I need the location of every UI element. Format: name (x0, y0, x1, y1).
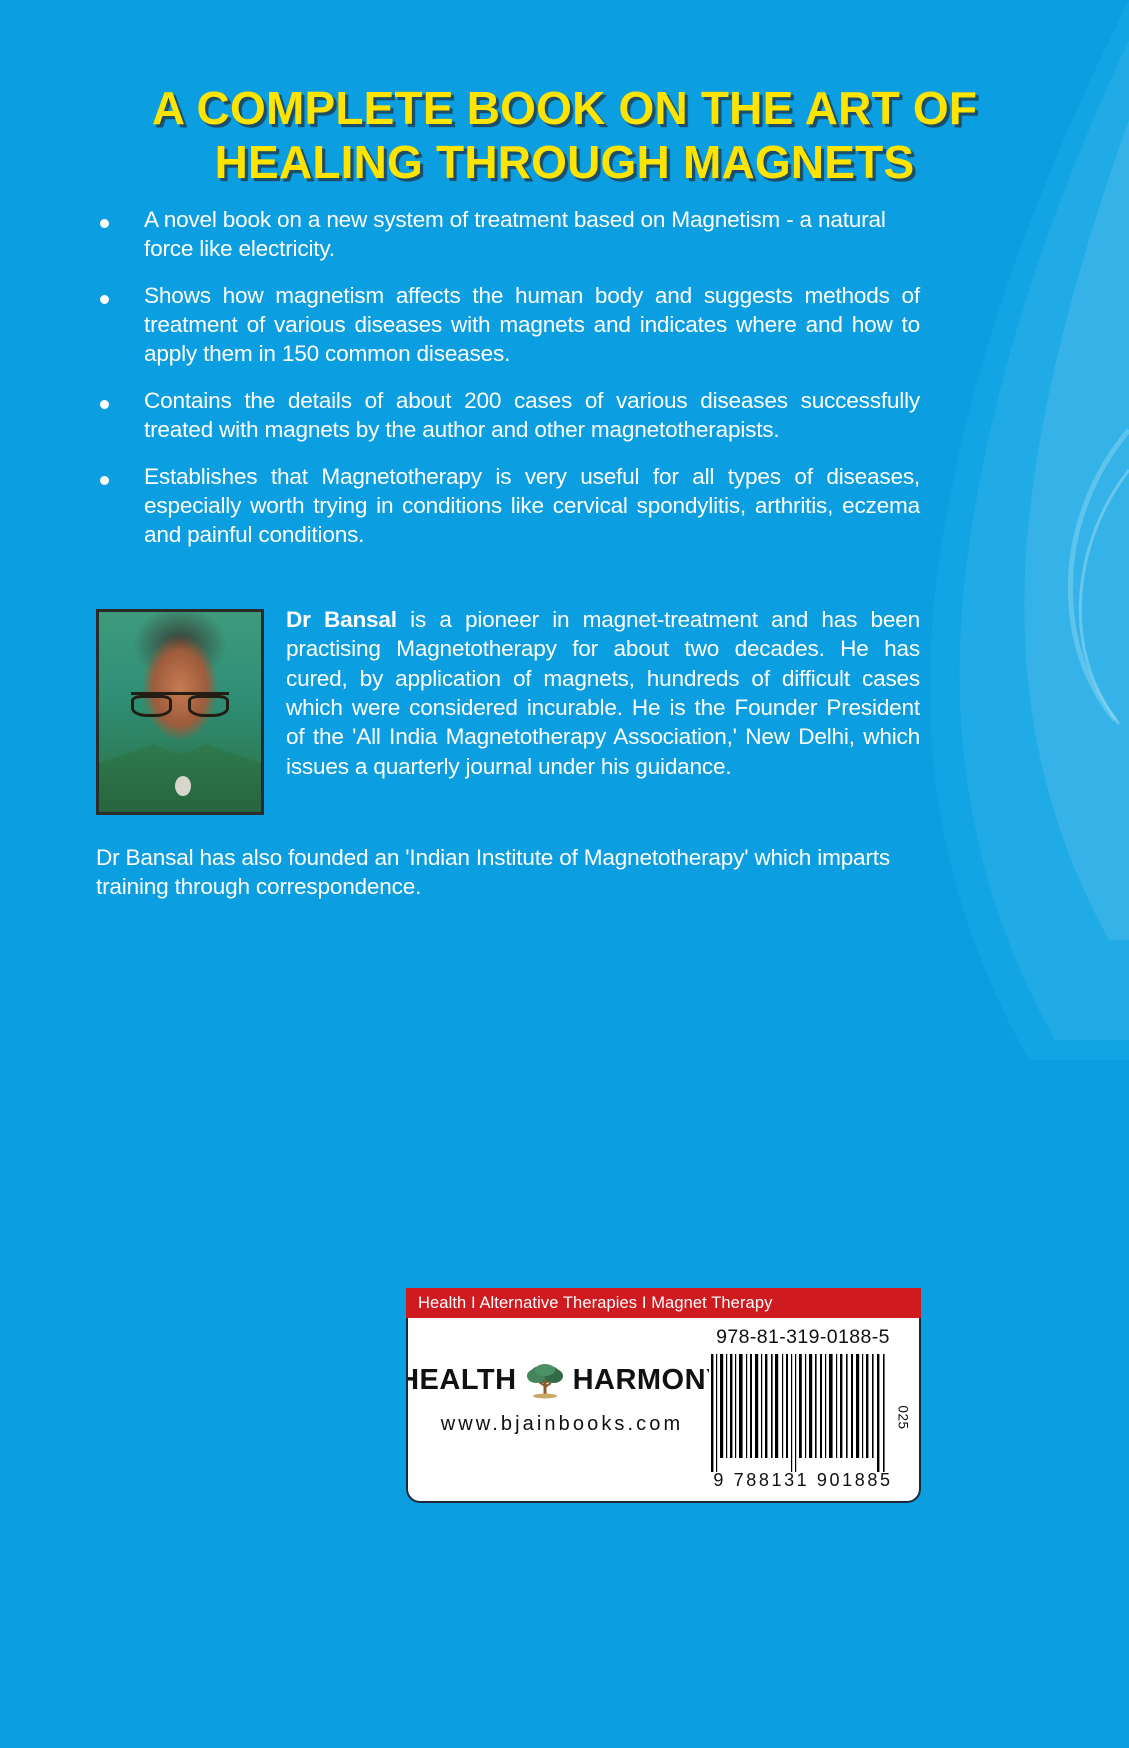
glasses-icon (131, 692, 228, 717)
bullet-text: Establishes that Magnetotherapy is very … (144, 462, 920, 550)
book-back-cover: A COMPLETE BOOK ON THE ART OF HEALING TH… (0, 0, 1129, 1748)
barcode-icon (709, 1354, 889, 1472)
bullet-dot-icon (100, 219, 109, 228)
publisher-panel: Health I Alternative Therapies I Magnet … (406, 1288, 921, 1503)
list-item: Shows how magnetism affects the human bo… (96, 281, 920, 369)
bullet-text: Shows how magnetism affects the human bo… (144, 281, 920, 369)
author-closing-note: Dr Bansal has also founded an 'Indian In… (96, 843, 920, 902)
logo-word-left: HEALTH (406, 1364, 517, 1397)
publisher-website[interactable]: www.bjainbooks.com (422, 1413, 702, 1436)
bullet-dot-icon (100, 400, 109, 409)
publisher-body: HEALTH HARMONY www.b (406, 1318, 921, 1503)
title-line-2: HEALING THROUGH MAGNETS (0, 136, 1129, 190)
category-bar: Health I Alternative Therapies I Magnet … (406, 1288, 921, 1318)
bullet-dot-icon (100, 295, 109, 304)
side-code-label: 025 (895, 1405, 910, 1429)
feature-bullet-list: A novel book on a new system of treatmen… (96, 205, 920, 567)
publisher-logo: HEALTH HARMONY www.b (422, 1360, 702, 1436)
bullet-text: Contains the details of about 200 cases … (144, 386, 920, 445)
barcode-block: 978-81-319-0188-5 (709, 1326, 897, 1491)
barcode-digits: 9 788131 901885 (709, 1470, 897, 1491)
author-name: Dr Bansal (286, 607, 397, 632)
tree-icon (523, 1360, 567, 1400)
author-bio-text: is a pioneer in magnet-treatment and has… (286, 607, 920, 779)
list-item: Contains the details of about 200 cases … (96, 386, 920, 445)
page-title: A COMPLETE BOOK ON THE ART OF HEALING TH… (0, 82, 1129, 190)
list-item: Establishes that Magnetotherapy is very … (96, 462, 920, 550)
author-block: Dr Bansal is a pioneer in magnet-treatme… (96, 605, 920, 819)
bullet-text: A novel book on a new system of treatmen… (144, 205, 920, 264)
title-line-1: A COMPLETE BOOK ON THE ART OF (0, 82, 1129, 136)
logo-word-right: HARMONY (573, 1364, 726, 1397)
list-item: A novel book on a new system of treatmen… (96, 205, 920, 264)
isbn-number: 978-81-319-0188-5 (709, 1326, 897, 1349)
logo-line: HEALTH HARMONY (422, 1360, 702, 1400)
bullet-dot-icon (100, 476, 109, 485)
author-photo (96, 609, 264, 815)
